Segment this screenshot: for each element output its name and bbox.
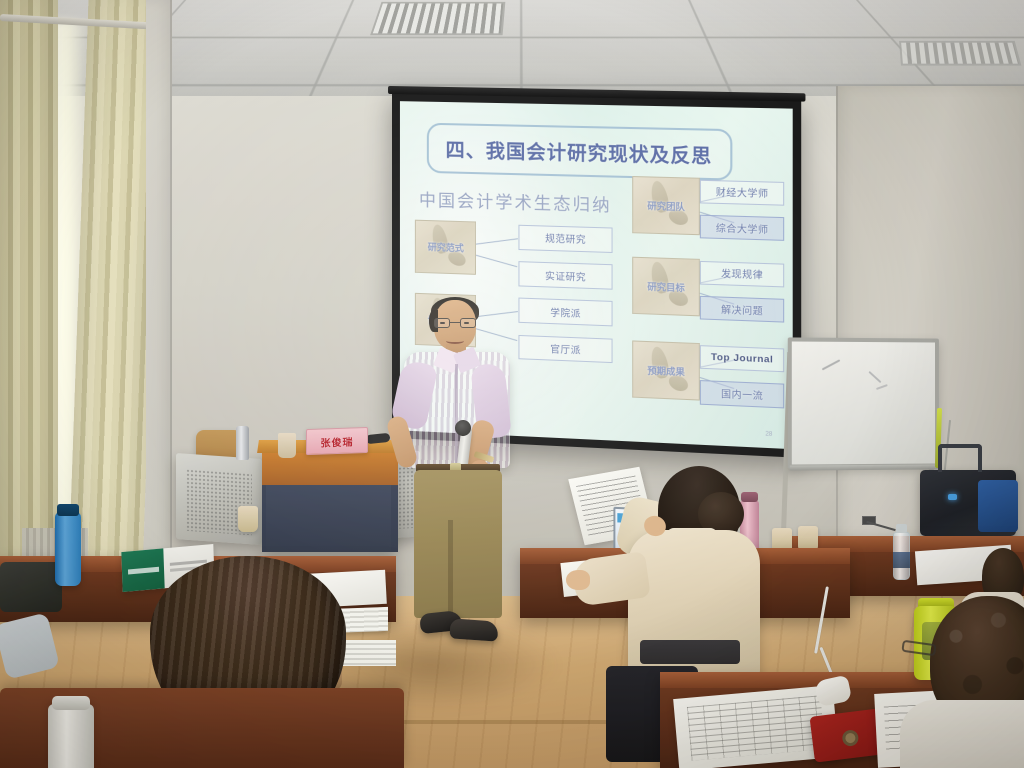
curtain-left [0,0,58,600]
lectern-front-panel [266,485,391,552]
whiteboard-mark [868,371,881,383]
metal-thermos [236,426,249,460]
rolling-suitcase [920,470,1016,536]
lectern [262,448,398,552]
slide-node-3: 研究团队 [632,176,700,235]
suitcase-indicator-light [948,494,957,500]
bottle-label [893,552,910,568]
slide-leaf-2b: 官厅派 [519,335,613,364]
thermos-cap [52,696,90,710]
slide-subtitle: 中国会计学术生态归纳 [419,186,612,217]
slide-page-number: 28 [765,432,772,439]
whiteboard-mark [875,384,887,390]
slide-title-box: 四、我国会计研究现状及反思 [427,123,732,180]
slide-node-4-label: 研究目标 [647,279,684,294]
presenter-speaking [398,300,518,644]
wall-seam-left [170,0,172,600]
ceiling-air-vent [370,2,505,35]
classroom-photo: 四、我国会计研究现状及反思 中国会计学术生态归纳 研究范式 规范研究 实证研究 [0,0,1024,768]
slide-leaf-4a: 发现规律 [700,261,785,288]
slide-title: 四、我国会计研究现状及反思 [446,135,713,169]
presenter-trousers [414,470,502,618]
student-bottom-right-shoulders [900,700,1024,768]
student-center-hand [566,570,590,590]
blue-water-bottle [55,512,81,586]
paper-cup [238,506,258,532]
slide-node-5: 预期成果 [632,341,700,401]
slide-leaf-3a: 财经大学师 [700,180,785,206]
slide-node-3-label: 研究团队 [647,198,684,212]
slide-node-5-label: 预期成果 [647,363,684,378]
slide-leaf-1a: 规范研究 [519,225,613,253]
suitcase-blue-panel [978,480,1018,532]
slide-leaf-5b: 国内一流 [700,381,785,408]
slide-leaf-4b: 解决问题 [700,296,785,323]
phone-ring-holder [841,729,859,747]
chair-backrest [640,640,740,664]
slide-leaf-1b: 实证研究 [519,261,613,289]
nameplate-text: 张俊瑞 [321,433,354,449]
slide-node-1-label: 研究范式 [428,240,464,254]
paper-cup [278,433,296,458]
bottle-cap [896,524,907,533]
glasses-icon [434,318,476,328]
slide-node-4: 研究目标 [632,257,700,317]
slide-leaf-2a: 学院派 [519,298,613,327]
whiteboard-mark [822,359,841,370]
slide-node-1: 研究范式 [415,220,476,275]
suitcase-handle [938,444,982,472]
presenter-shoe-right [449,618,498,641]
foreground-thermos [48,704,94,768]
slide-leaf-3b: 综合大学师 [700,215,785,241]
document-table-grid [687,695,826,761]
thermos-cap [741,492,758,502]
trouser-crease [448,520,453,620]
whiteboard [788,337,939,468]
bottle-cap [57,504,79,516]
nameplate: 张俊瑞 [306,427,368,455]
slide-leaf-5a: Top Journal [700,345,785,372]
backpack [0,562,62,612]
ceiling-light-fixture [899,41,1021,66]
shirt-button-placket [455,364,458,464]
